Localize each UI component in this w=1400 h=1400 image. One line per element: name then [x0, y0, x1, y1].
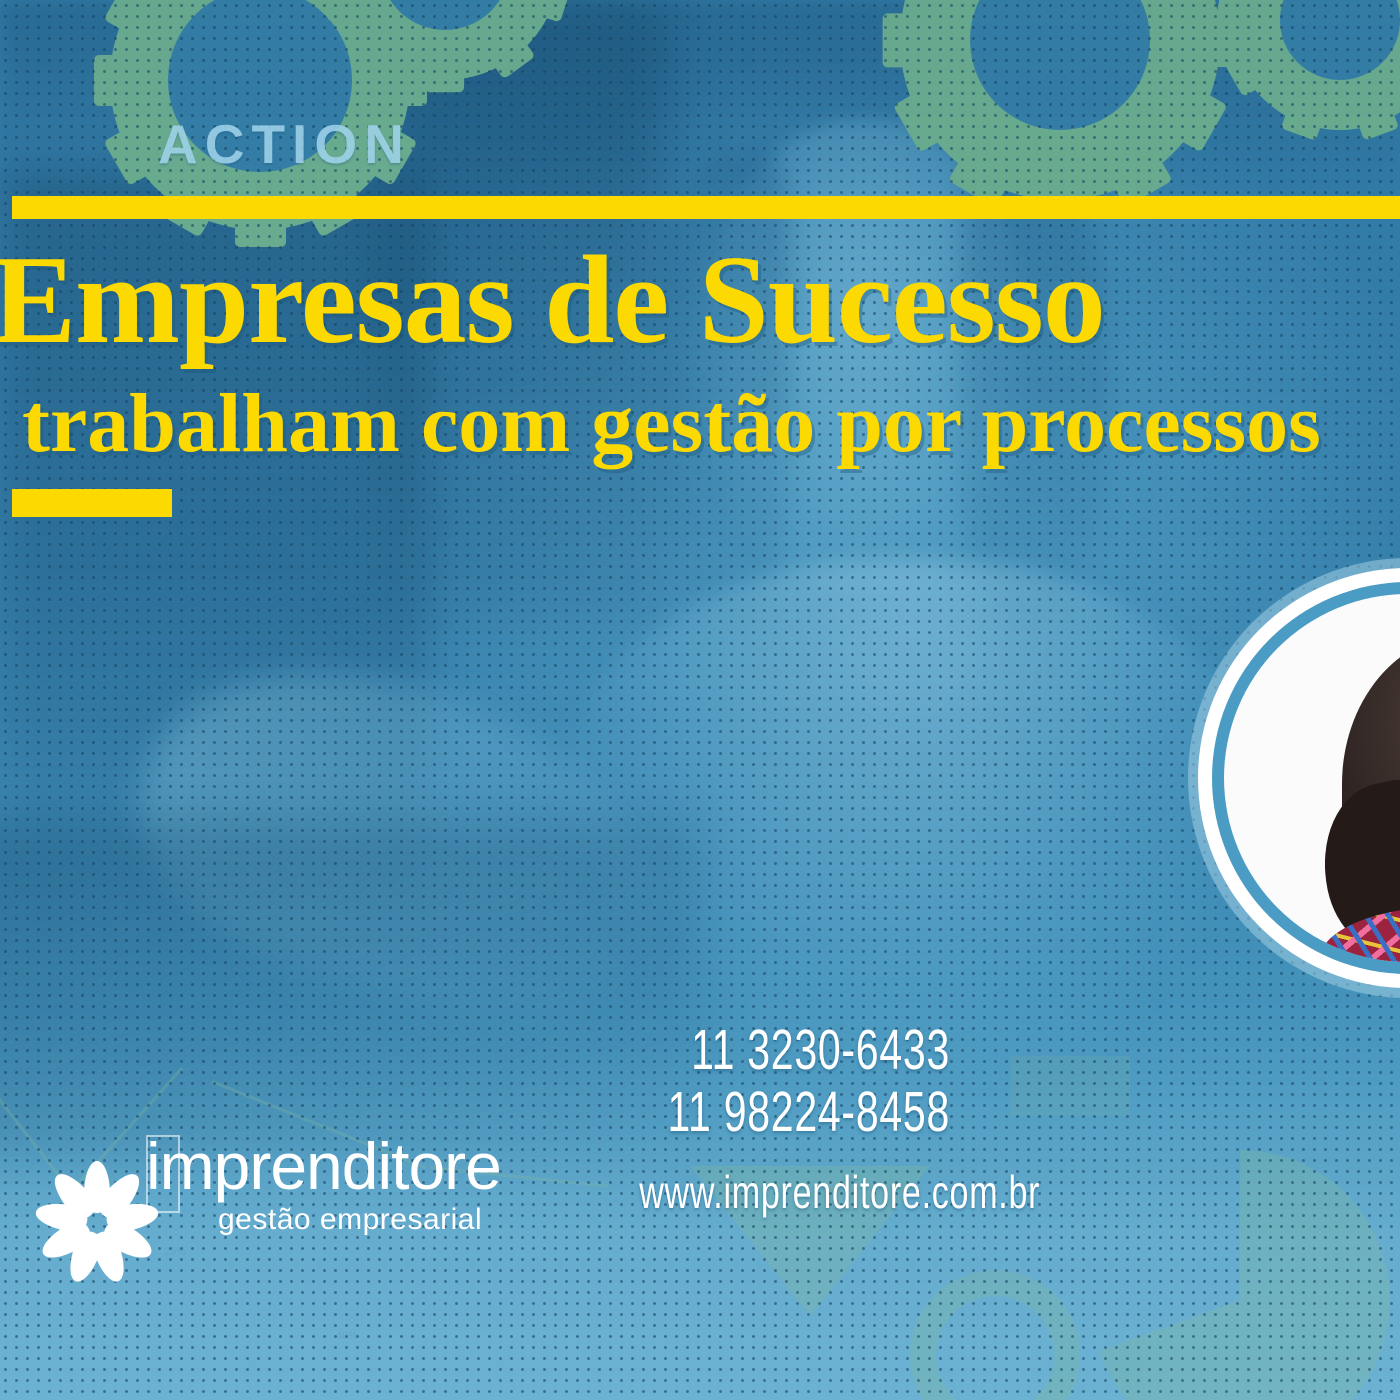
headline-bottom-rule	[12, 489, 172, 517]
gear-tooth	[94, 55, 145, 106]
action-watermark-text: ACTION	[158, 112, 411, 176]
gear-icon-corner-right	[1230, 0, 1400, 130]
gear-tooth	[882, 13, 936, 67]
headline-line-1: Empresas de Sucesso	[0, 238, 1105, 364]
website-url[interactable]: www.imprenditore.com.br	[639, 1165, 950, 1219]
brand-logo: imprenditore gestão empresarial	[18, 1095, 488, 1275]
phone-secondary[interactable]: 11 98224-8458	[648, 1082, 950, 1144]
contact-block: 11 3230-6433 11 98224-8458 www.imprendit…	[530, 1020, 950, 1219]
phone-primary[interactable]: 11 3230-6433	[648, 1020, 950, 1082]
podcast-cover-poster: 10% 25% 60% 40% 85% ACTION Empresas de S…	[0, 0, 1400, 1400]
logo-wordmark: imprenditore	[146, 1133, 501, 1199]
headline-top-rule	[12, 196, 1400, 219]
gear-icon-top-right	[900, 0, 1220, 200]
logo-tagline: gestão empresarial	[218, 1203, 482, 1237]
gear-tooth	[425, 54, 464, 93]
headline-line-2: trabalham com gestão por processos	[22, 382, 1321, 466]
gear-icon-top	[330, 0, 560, 80]
